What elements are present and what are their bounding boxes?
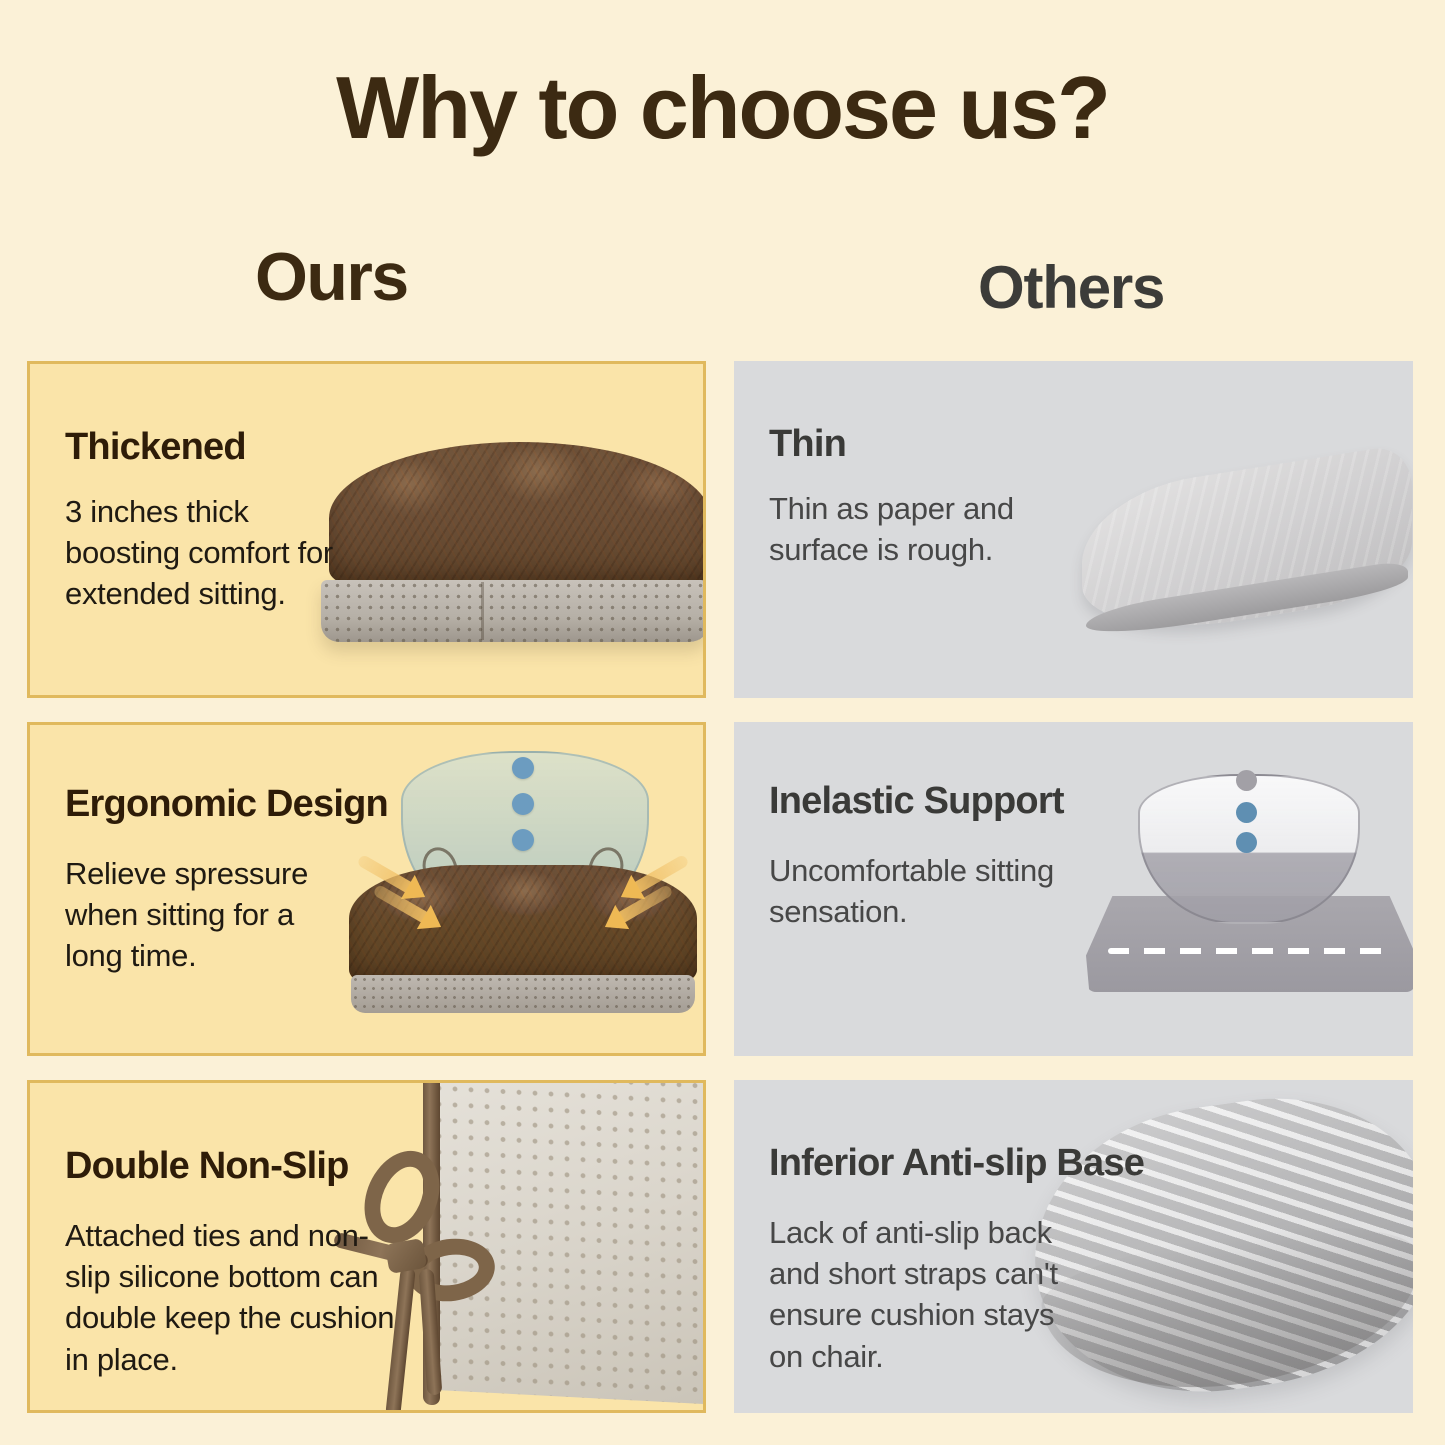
pressure-dot-icon [512, 829, 534, 851]
card-body: Uncomfortable sitting sensation. [769, 850, 1059, 932]
pressure-dot-icon [1236, 770, 1257, 791]
card-title: Inferior Anti-slip Base [769, 1142, 1144, 1185]
comparison-card-others-inelastic-support: Inelastic Support Uncomfortable sitting … [734, 722, 1413, 1056]
card-body: Attached ties and non-slip silicone bott… [65, 1215, 395, 1380]
ergonomic-cushion-pressure-diagram [349, 747, 697, 1047]
column-header-others: Others [978, 253, 1164, 322]
silicone-dotted-bottom-with-tie-bow-photo [379, 1080, 706, 1413]
pressure-dot-icon [512, 793, 534, 815]
pressure-dot-icon [1236, 832, 1257, 853]
thick-brown-cushion-photo [321, 442, 706, 662]
page-title: Why to choose us? [0, 62, 1445, 154]
card-title: Ergonomic Design [65, 783, 388, 826]
card-title: Inelastic Support [769, 780, 1064, 823]
thin-grey-pad-photo [1082, 469, 1412, 619]
pressure-dot-icon [512, 757, 534, 779]
comparison-card-ours-ergonomic-design: Ergonomic Design Relieve spressure when … [27, 722, 706, 1056]
card-body: Lack of anti-slip back and short straps … [769, 1212, 1089, 1377]
card-title: Thin [769, 423, 846, 466]
pressure-dot-icon [1236, 802, 1257, 823]
card-body: 3 inches thick boosting comfort for exte… [65, 491, 365, 615]
card-title: Double Non-Slip [65, 1145, 349, 1188]
card-body: Relieve spressure when sitting for a lon… [65, 853, 355, 977]
card-title: Thickened [65, 426, 246, 469]
card-body: Thin as paper and surface is rough. [769, 488, 1059, 570]
comparison-card-ours-double-non-slip: Double Non-Slip Attached ties and non-sl… [27, 1080, 706, 1413]
dashed-line-icon [1108, 948, 1396, 954]
flat-inelastic-cushion-diagram [1086, 752, 1413, 1002]
comparison-card-others-inferior-anti-slip-base: Inferior Anti-slip Base Lack of anti-sli… [734, 1080, 1413, 1413]
comparison-card-others-thin: Thin Thin as paper and surface is rough. [734, 361, 1413, 698]
column-header-ours: Ours [255, 238, 408, 316]
round-grey-cushion-underside-photo [1034, 1086, 1413, 1408]
comparison-card-ours-thickened: Thickened 3 inches thick boosting comfor… [27, 361, 706, 698]
